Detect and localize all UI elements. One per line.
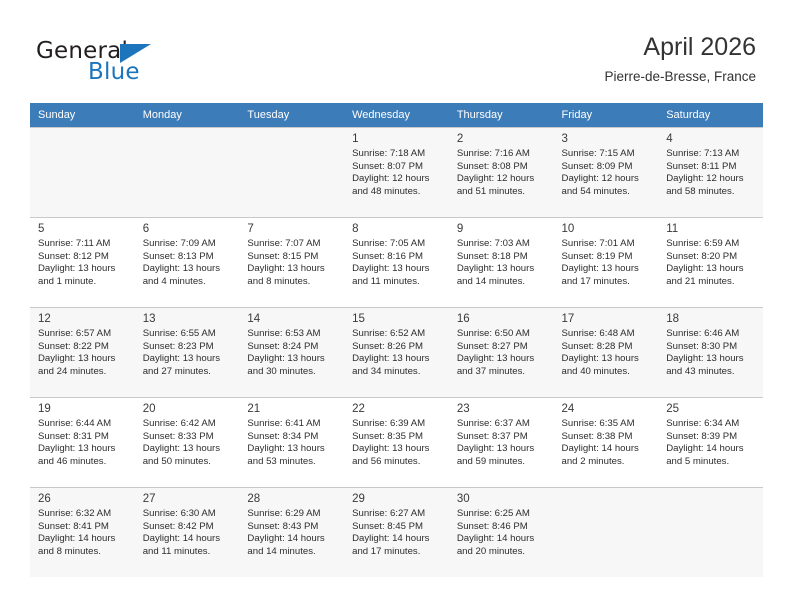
- calendar-day-cell[interactable]: 26Sunrise: 6:32 AM Sunset: 8:41 PM Dayli…: [30, 488, 135, 578]
- calendar-day-cell: [554, 488, 659, 578]
- title-block: April 2026 Pierre-de-Bresse, France: [604, 32, 756, 85]
- day-number: 17: [562, 308, 651, 326]
- calendar-day-cell: [30, 128, 135, 218]
- day-number: 18: [666, 308, 755, 326]
- day-sun-info: Sunrise: 6:50 AM Sunset: 8:27 PM Dayligh…: [457, 326, 546, 378]
- day-sun-info: Sunrise: 6:37 AM Sunset: 8:37 PM Dayligh…: [457, 416, 546, 468]
- calendar-day-cell[interactable]: 23Sunrise: 6:37 AM Sunset: 8:37 PM Dayli…: [449, 398, 554, 488]
- brand-name-blue: Blue: [88, 59, 140, 85]
- calendar-week-row: 12Sunrise: 6:57 AM Sunset: 8:22 PM Dayli…: [30, 308, 763, 398]
- day-number: 19: [38, 398, 127, 416]
- calendar-day-cell[interactable]: 30Sunrise: 6:25 AM Sunset: 8:46 PM Dayli…: [449, 488, 554, 578]
- calendar-day-cell[interactable]: 28Sunrise: 6:29 AM Sunset: 8:43 PM Dayli…: [239, 488, 344, 578]
- day-number: 3: [562, 128, 651, 146]
- weekday-header-tuesday: Tuesday: [239, 103, 344, 128]
- calendar-day-cell[interactable]: 11Sunrise: 6:59 AM Sunset: 8:20 PM Dayli…: [658, 218, 763, 308]
- day-sun-info: Sunrise: 6:27 AM Sunset: 8:45 PM Dayligh…: [352, 506, 441, 558]
- day-number: 27: [143, 488, 232, 506]
- calendar-week-row: 19Sunrise: 6:44 AM Sunset: 8:31 PM Dayli…: [30, 398, 763, 488]
- day-number: 20: [143, 398, 232, 416]
- day-number: 9: [457, 218, 546, 236]
- day-sun-info: Sunrise: 6:52 AM Sunset: 8:26 PM Dayligh…: [352, 326, 441, 378]
- day-number: 13: [143, 308, 232, 326]
- weekday-header-monday: Monday: [135, 103, 240, 128]
- day-sun-info: Sunrise: 6:41 AM Sunset: 8:34 PM Dayligh…: [247, 416, 336, 468]
- brand-logo[interactable]: General Blue: [36, 38, 246, 88]
- day-sun-info: Sunrise: 6:29 AM Sunset: 8:43 PM Dayligh…: [247, 506, 336, 558]
- day-sun-info: Sunrise: 7:15 AM Sunset: 8:09 PM Dayligh…: [562, 146, 651, 198]
- day-number: 1: [352, 128, 441, 146]
- day-number: 11: [666, 218, 755, 236]
- day-number: 24: [562, 398, 651, 416]
- calendar-day-cell: [239, 128, 344, 218]
- calendar-day-cell[interactable]: 3Sunrise: 7:15 AM Sunset: 8:09 PM Daylig…: [554, 128, 659, 218]
- calendar-body: 1Sunrise: 7:18 AM Sunset: 8:07 PM Daylig…: [30, 128, 763, 578]
- calendar-day-cell[interactable]: 14Sunrise: 6:53 AM Sunset: 8:24 PM Dayli…: [239, 308, 344, 398]
- day-sun-info: Sunrise: 6:48 AM Sunset: 8:28 PM Dayligh…: [562, 326, 651, 378]
- calendar-day-cell[interactable]: 7Sunrise: 7:07 AM Sunset: 8:15 PM Daylig…: [239, 218, 344, 308]
- page-header: General Blue April 2026 Pierre-de-Bresse…: [0, 0, 792, 103]
- day-sun-info: Sunrise: 7:01 AM Sunset: 8:19 PM Dayligh…: [562, 236, 651, 288]
- weekday-header-wednesday: Wednesday: [344, 103, 449, 128]
- weekday-header-sunday: Sunday: [30, 103, 135, 128]
- day-number: 21: [247, 398, 336, 416]
- calendar-day-cell[interactable]: 12Sunrise: 6:57 AM Sunset: 8:22 PM Dayli…: [30, 308, 135, 398]
- calendar-day-cell[interactable]: 17Sunrise: 6:48 AM Sunset: 8:28 PM Dayli…: [554, 308, 659, 398]
- day-sun-info: Sunrise: 6:57 AM Sunset: 8:22 PM Dayligh…: [38, 326, 127, 378]
- day-sun-info: Sunrise: 6:53 AM Sunset: 8:24 PM Dayligh…: [247, 326, 336, 378]
- day-number: 22: [352, 398, 441, 416]
- day-sun-info: [562, 492, 651, 494]
- day-sun-info: Sunrise: 7:09 AM Sunset: 8:13 PM Dayligh…: [143, 236, 232, 288]
- calendar-day-cell[interactable]: 15Sunrise: 6:52 AM Sunset: 8:26 PM Dayli…: [344, 308, 449, 398]
- calendar-day-cell[interactable]: 10Sunrise: 7:01 AM Sunset: 8:19 PM Dayli…: [554, 218, 659, 308]
- day-sun-info: [143, 132, 232, 134]
- day-sun-info: [38, 132, 127, 134]
- day-sun-info: [247, 132, 336, 134]
- calendar-day-cell[interactable]: 25Sunrise: 6:34 AM Sunset: 8:39 PM Dayli…: [658, 398, 763, 488]
- calendar-day-cell[interactable]: 21Sunrise: 6:41 AM Sunset: 8:34 PM Dayli…: [239, 398, 344, 488]
- day-number: 26: [38, 488, 127, 506]
- day-number: 28: [247, 488, 336, 506]
- day-number: 10: [562, 218, 651, 236]
- calendar-week-row: 1Sunrise: 7:18 AM Sunset: 8:07 PM Daylig…: [30, 128, 763, 218]
- calendar-grid: Sunday Monday Tuesday Wednesday Thursday…: [30, 103, 763, 577]
- calendar-day-cell[interactable]: 16Sunrise: 6:50 AM Sunset: 8:27 PM Dayli…: [449, 308, 554, 398]
- calendar-day-cell[interactable]: 4Sunrise: 7:13 AM Sunset: 8:11 PM Daylig…: [658, 128, 763, 218]
- day-number: 14: [247, 308, 336, 326]
- day-sun-info: Sunrise: 6:34 AM Sunset: 8:39 PM Dayligh…: [666, 416, 755, 468]
- day-number: 6: [143, 218, 232, 236]
- day-sun-info: Sunrise: 6:44 AM Sunset: 8:31 PM Dayligh…: [38, 416, 127, 468]
- day-sun-info: Sunrise: 7:05 AM Sunset: 8:16 PM Dayligh…: [352, 236, 441, 288]
- day-sun-info: [666, 492, 755, 494]
- calendar-day-cell[interactable]: 19Sunrise: 6:44 AM Sunset: 8:31 PM Dayli…: [30, 398, 135, 488]
- day-number: 15: [352, 308, 441, 326]
- day-number: 16: [457, 308, 546, 326]
- weekday-header-saturday: Saturday: [658, 103, 763, 128]
- calendar-day-cell[interactable]: 24Sunrise: 6:35 AM Sunset: 8:38 PM Dayli…: [554, 398, 659, 488]
- day-sun-info: Sunrise: 7:13 AM Sunset: 8:11 PM Dayligh…: [666, 146, 755, 198]
- weekday-header-thursday: Thursday: [449, 103, 554, 128]
- day-sun-info: Sunrise: 6:25 AM Sunset: 8:46 PM Dayligh…: [457, 506, 546, 558]
- page-subtitle: Pierre-de-Bresse, France: [604, 68, 756, 85]
- day-number: 8: [352, 218, 441, 236]
- day-sun-info: Sunrise: 7:16 AM Sunset: 8:08 PM Dayligh…: [457, 146, 546, 198]
- calendar-day-cell[interactable]: 20Sunrise: 6:42 AM Sunset: 8:33 PM Dayli…: [135, 398, 240, 488]
- calendar-page: General Blue April 2026 Pierre-de-Bresse…: [0, 0, 792, 612]
- calendar-week-row: 5Sunrise: 7:11 AM Sunset: 8:12 PM Daylig…: [30, 218, 763, 308]
- calendar-day-cell[interactable]: 18Sunrise: 6:46 AM Sunset: 8:30 PM Dayli…: [658, 308, 763, 398]
- day-sun-info: Sunrise: 6:42 AM Sunset: 8:33 PM Dayligh…: [143, 416, 232, 468]
- day-number: 7: [247, 218, 336, 236]
- day-sun-info: Sunrise: 7:07 AM Sunset: 8:15 PM Dayligh…: [247, 236, 336, 288]
- day-number: 5: [38, 218, 127, 236]
- day-sun-info: Sunrise: 6:55 AM Sunset: 8:23 PM Dayligh…: [143, 326, 232, 378]
- day-sun-info: Sunrise: 6:35 AM Sunset: 8:38 PM Dayligh…: [562, 416, 651, 468]
- day-sun-info: Sunrise: 6:59 AM Sunset: 8:20 PM Dayligh…: [666, 236, 755, 288]
- day-number: 30: [457, 488, 546, 506]
- day-number: 12: [38, 308, 127, 326]
- day-number: 29: [352, 488, 441, 506]
- day-number: 25: [666, 398, 755, 416]
- day-sun-info: Sunrise: 6:30 AM Sunset: 8:42 PM Dayligh…: [143, 506, 232, 558]
- calendar-day-cell[interactable]: 22Sunrise: 6:39 AM Sunset: 8:35 PM Dayli…: [344, 398, 449, 488]
- day-sun-info: Sunrise: 7:18 AM Sunset: 8:07 PM Dayligh…: [352, 146, 441, 198]
- calendar-week-row: 26Sunrise: 6:32 AM Sunset: 8:41 PM Dayli…: [30, 488, 763, 578]
- calendar-day-cell[interactable]: 2Sunrise: 7:16 AM Sunset: 8:08 PM Daylig…: [449, 128, 554, 218]
- calendar-day-cell: [135, 128, 240, 218]
- day-sun-info: Sunrise: 6:39 AM Sunset: 8:35 PM Dayligh…: [352, 416, 441, 468]
- day-sun-info: Sunrise: 6:46 AM Sunset: 8:30 PM Dayligh…: [666, 326, 755, 378]
- calendar-day-cell[interactable]: 6Sunrise: 7:09 AM Sunset: 8:13 PM Daylig…: [135, 218, 240, 308]
- calendar-day-cell: [658, 488, 763, 578]
- day-sun-info: Sunrise: 6:32 AM Sunset: 8:41 PM Dayligh…: [38, 506, 127, 558]
- day-number: 23: [457, 398, 546, 416]
- calendar-day-cell[interactable]: 1Sunrise: 7:18 AM Sunset: 8:07 PM Daylig…: [344, 128, 449, 218]
- page-title: April 2026: [604, 32, 756, 62]
- calendar-header-row: Sunday Monday Tuesday Wednesday Thursday…: [30, 103, 763, 128]
- calendar-day-cell[interactable]: 13Sunrise: 6:55 AM Sunset: 8:23 PM Dayli…: [135, 308, 240, 398]
- calendar-day-cell[interactable]: 9Sunrise: 7:03 AM Sunset: 8:18 PM Daylig…: [449, 218, 554, 308]
- calendar-day-cell[interactable]: 29Sunrise: 6:27 AM Sunset: 8:45 PM Dayli…: [344, 488, 449, 578]
- day-sun-info: Sunrise: 7:03 AM Sunset: 8:18 PM Dayligh…: [457, 236, 546, 288]
- calendar-day-cell[interactable]: 27Sunrise: 6:30 AM Sunset: 8:42 PM Dayli…: [135, 488, 240, 578]
- weekday-header-friday: Friday: [554, 103, 659, 128]
- day-number: 2: [457, 128, 546, 146]
- day-sun-info: Sunrise: 7:11 AM Sunset: 8:12 PM Dayligh…: [38, 236, 127, 288]
- calendar-day-cell[interactable]: 5Sunrise: 7:11 AM Sunset: 8:12 PM Daylig…: [30, 218, 135, 308]
- day-number: 4: [666, 128, 755, 146]
- calendar-day-cell[interactable]: 8Sunrise: 7:05 AM Sunset: 8:16 PM Daylig…: [344, 218, 449, 308]
